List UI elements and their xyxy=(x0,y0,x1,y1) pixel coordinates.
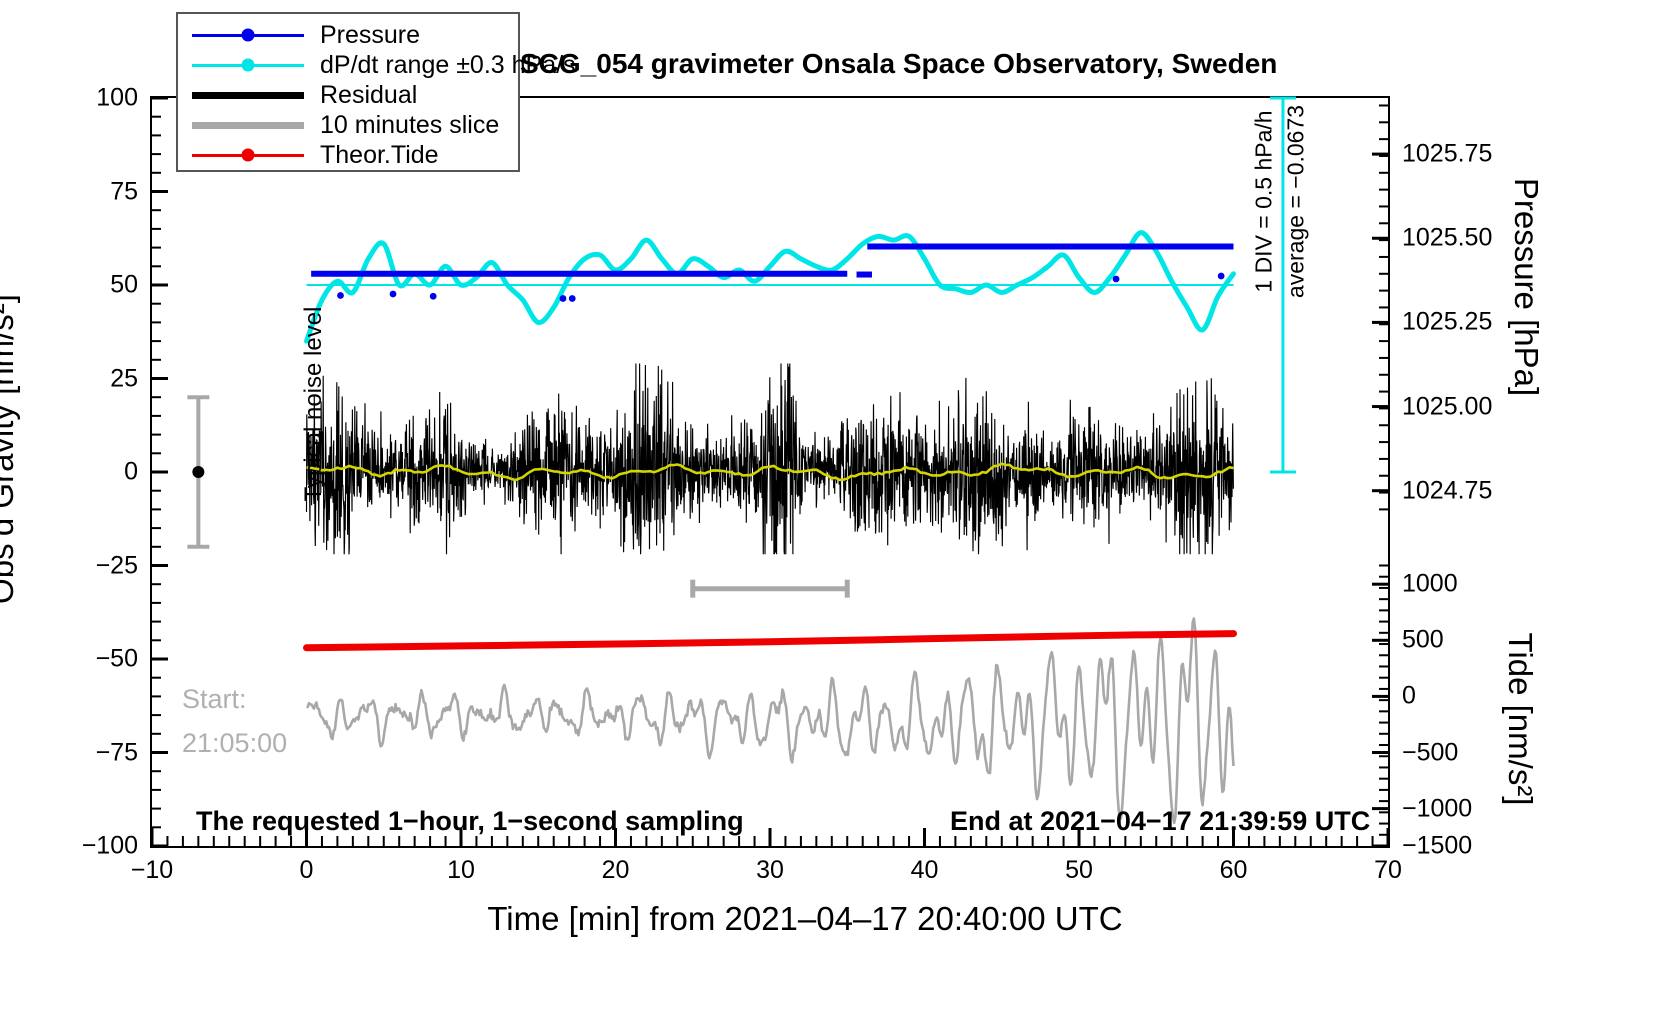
y-tick-label: 50 xyxy=(28,271,138,300)
tide-tick-label: 500 xyxy=(1402,626,1444,655)
y-tick-label: −25 xyxy=(28,551,138,580)
x-tick-label: 20 xyxy=(602,856,630,885)
legend-item-dp-dt-range-0-3-hpa-s[interactable]: dP/dt range ±0.3 hPa/s xyxy=(178,50,518,80)
tide-tick-label: −500 xyxy=(1402,738,1458,767)
typical-noise-level-label: Typical noise level xyxy=(300,304,328,504)
end-time-note: End at 2021−04−17 21:39:59 UTC xyxy=(950,806,1370,837)
legend: PressuredP/dt range ±0.3 hPa/sResidual10… xyxy=(176,12,520,172)
legend-swatch-icon xyxy=(192,83,304,107)
legend-marker-dot xyxy=(242,29,255,42)
legend-marker-dot xyxy=(242,149,255,162)
chart-canvas: SCG_054 gravimeter Onsala Space Observat… xyxy=(0,0,1676,1020)
y-tick-label: 100 xyxy=(28,84,138,113)
tide-tick-label: 1000 xyxy=(1402,570,1458,599)
x-tick-label: −10 xyxy=(131,856,173,885)
pressure-tick-label: 1025.00 xyxy=(1402,392,1492,421)
x-tick-label: 50 xyxy=(1065,856,1093,885)
y-tick-label: −50 xyxy=(28,645,138,674)
legend-item-label: 10 minutes slice xyxy=(304,111,499,140)
average-value-label: average = −0.0673 xyxy=(1283,102,1310,302)
legend-item-theor-tide[interactable]: Theor.Tide xyxy=(178,140,518,170)
x-tick-label: 0 xyxy=(300,856,314,885)
y-tick-label: 25 xyxy=(28,364,138,393)
x-tick-label: 30 xyxy=(756,856,784,885)
legend-item-residual[interactable]: Residual xyxy=(178,80,518,110)
y-axis-pressure-label: Pressure [hPa] xyxy=(1507,77,1545,497)
x-tick-label: 10 xyxy=(447,856,475,885)
division-scale-label: 1 DIV = 0.5 hPa/h xyxy=(1251,102,1278,302)
y-axis-left-label: Obs’d Gravity [nm/s²] xyxy=(0,129,21,769)
legend-item-label: Theor.Tide xyxy=(304,141,439,170)
x-tick-label: 40 xyxy=(911,856,939,885)
x-tick-label: 60 xyxy=(1220,856,1248,885)
legend-swatch-icon xyxy=(192,53,304,77)
start-time-value: 21:05:00 xyxy=(182,728,287,759)
sampling-note: The requested 1−hour, 1−second sampling xyxy=(196,806,744,837)
tide-tick-label: −1000 xyxy=(1402,794,1472,823)
start-label: Start: xyxy=(182,684,247,715)
tide-tick-label: −1500 xyxy=(1402,832,1472,861)
y-tick-label: 75 xyxy=(28,177,138,206)
legend-item-pressure[interactable]: Pressure xyxy=(178,20,518,50)
legend-swatch-icon xyxy=(192,113,304,137)
legend-item-10-minutes-slice[interactable]: 10 minutes slice xyxy=(178,110,518,140)
x-axis-label: Time [min] from 2021–04–17 20:40:00 UTC xyxy=(280,900,1330,938)
legend-item-label: Pressure xyxy=(304,21,420,50)
pressure-tick-label: 1025.25 xyxy=(1402,308,1492,337)
legend-item-label: Residual xyxy=(304,81,417,110)
pressure-tick-label: 1024.75 xyxy=(1402,476,1492,505)
y-tick-label: 0 xyxy=(28,458,138,487)
y-axis-tide-label: Tide [nm/s²] xyxy=(1501,529,1539,909)
legend-item-label: dP/dt range ±0.3 hPa/s xyxy=(304,51,576,80)
y-tick-label: −100 xyxy=(28,832,138,861)
pressure-tick-label: 1025.50 xyxy=(1402,224,1492,253)
legend-swatch-icon xyxy=(192,23,304,47)
pressure-tick-label: 1025.75 xyxy=(1402,140,1492,169)
x-tick-label: 70 xyxy=(1374,856,1402,885)
y-tick-label: −75 xyxy=(28,738,138,767)
legend-swatch-icon xyxy=(192,143,304,167)
tide-tick-label: 0 xyxy=(1402,682,1416,711)
legend-marker-dot xyxy=(242,59,255,72)
